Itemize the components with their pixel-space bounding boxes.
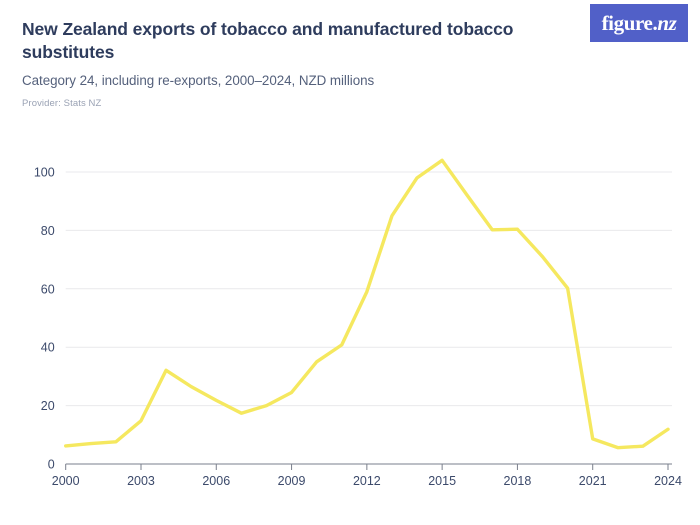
y-axis-tick-label: 0 (48, 458, 55, 472)
y-axis-tick-label: 100 (34, 166, 55, 180)
y-axis-tick-label: 20 (41, 399, 55, 413)
y-axis-tick-label: 40 (41, 341, 55, 355)
x-axis-tick-label: 2009 (278, 474, 306, 488)
x-axis (66, 464, 672, 470)
x-axis-tick-label: 2015 (428, 474, 456, 488)
x-axis-tick-label: 2018 (504, 474, 532, 488)
x-axis-tick-label: 2000 (52, 474, 80, 488)
x-axis-labels: 200020032006200920122015201820212024 (52, 474, 682, 488)
exports-line-series (66, 160, 668, 447)
line-chart-svg: 020406080100 200020032006200920122015201… (0, 0, 700, 525)
x-axis-tick-label: 2003 (127, 474, 155, 488)
y-axis-tick-label: 80 (41, 224, 55, 238)
chart-area: 020406080100 200020032006200920122015201… (0, 0, 700, 525)
x-axis-tick-label: 2024 (654, 474, 682, 488)
y-axis-tick-label: 60 (41, 282, 55, 296)
chart-page: New Zealand exports of tobacco and manuf… (0, 0, 700, 525)
y-axis-labels: 020406080100 (34, 166, 55, 472)
x-axis-tick-label: 2021 (579, 474, 607, 488)
data-series-group (66, 160, 668, 447)
x-axis-tick-label: 2012 (353, 474, 381, 488)
x-axis-tick-label: 2006 (202, 474, 230, 488)
